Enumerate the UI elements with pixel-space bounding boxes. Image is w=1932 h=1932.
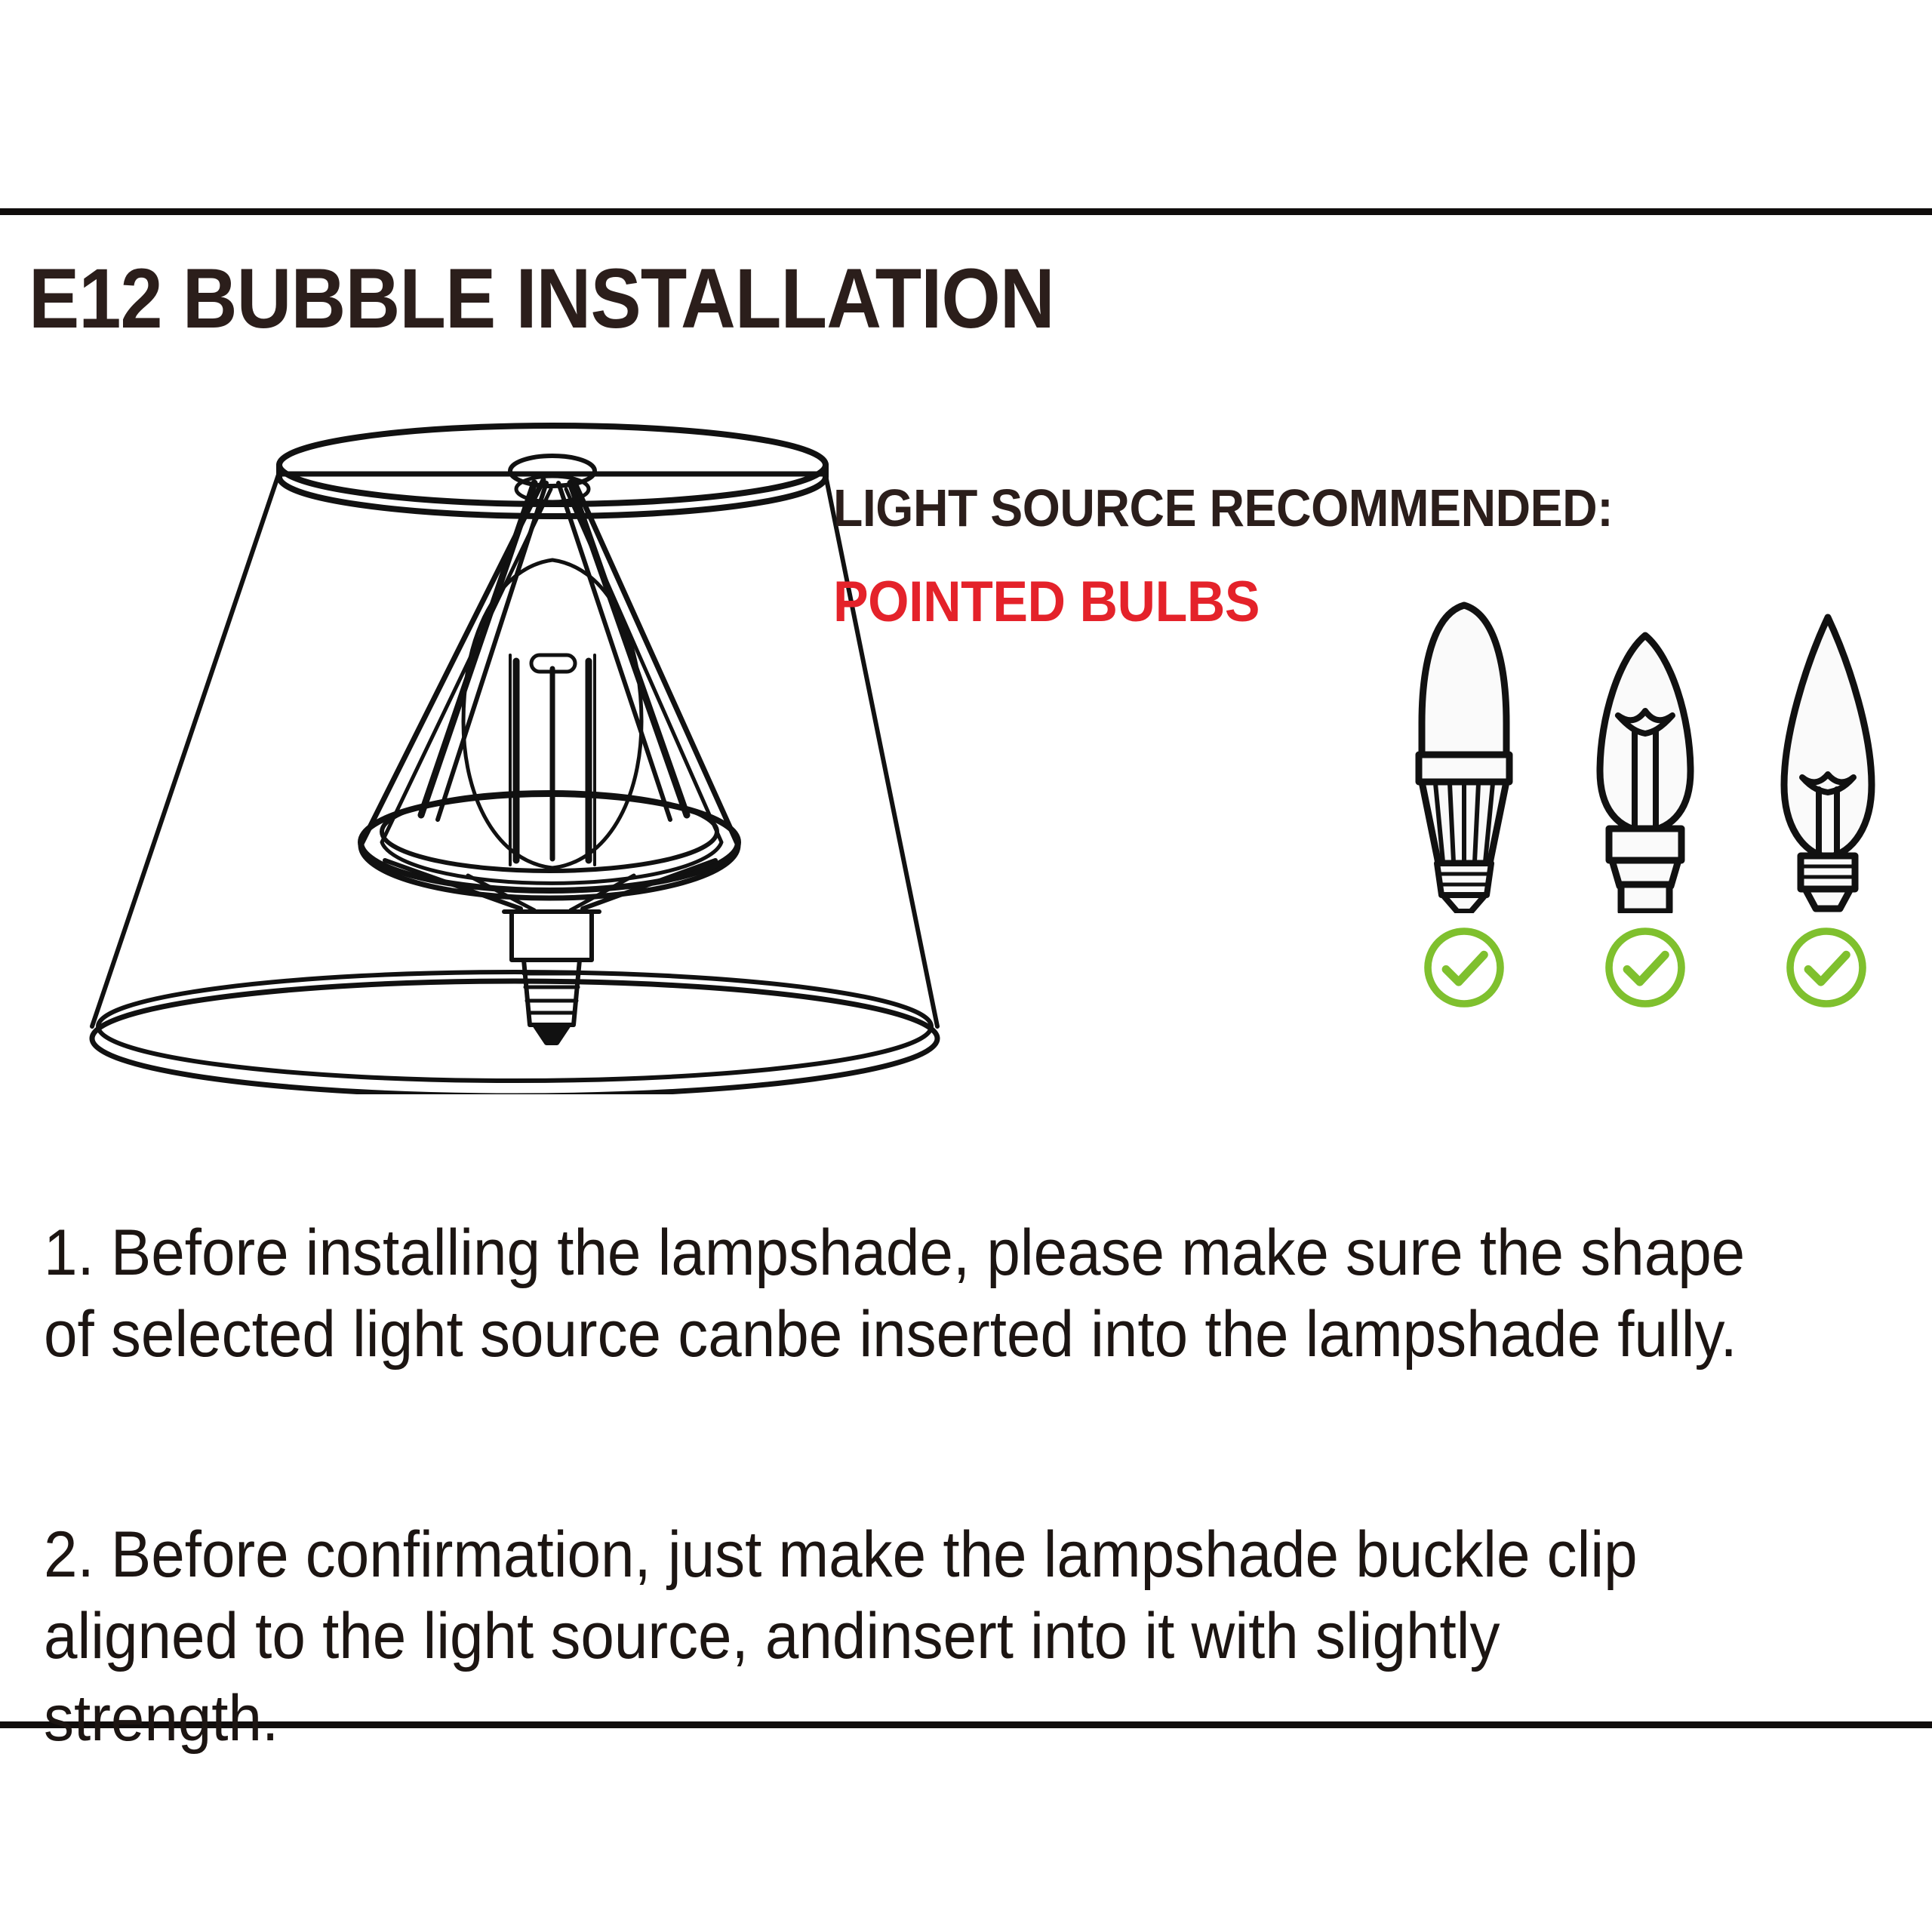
led-candle-bulb-icon: [1396, 596, 1532, 913]
check-circle-icon: [1600, 922, 1690, 1013]
instruction-step-2: 2. Before confirmation, just make the la…: [44, 1514, 1749, 1759]
e12-screw-base: [524, 960, 580, 1025]
instruction-step-1: 1. Before installing the lampshade, plea…: [44, 1212, 1749, 1376]
check-circle-icon: [1781, 922, 1872, 1013]
bulb-neck: [512, 912, 592, 960]
top-ring-outer: [279, 426, 826, 504]
bulb-option-led-candle[interactable]: [1389, 596, 1540, 1013]
flame-tip-bulb-icon: [1758, 596, 1894, 913]
clear-candle-bulb-icon: [1577, 596, 1713, 913]
shade-right-edge: [824, 468, 937, 1026]
frame-top-rule: [0, 208, 1932, 215]
check-circle-icon: [1419, 922, 1509, 1013]
clip-cage-outline: [361, 480, 738, 898]
bulb-option-clear-candle[interactable]: [1570, 596, 1721, 1013]
bottom-rim-inner: [98, 972, 931, 1081]
light-source-recommended-label: LIGHT SOURCE RECOMMENDED:: [833, 481, 1613, 534]
clip-lower-ring-inner: [382, 792, 717, 871]
bottom-rim-outer: [92, 981, 937, 1094]
bulb-option-flame-tip[interactable]: [1751, 596, 1902, 1013]
page-title: E12 BUBBLE INSTALLATION: [29, 257, 1054, 341]
recommended-bulb-gallery: [1389, 596, 1902, 1041]
installation-instruction-card: E12 BUBBLE INSTALLATION: [0, 0, 1932, 1932]
recommended-bulb-type-value: POINTED BULBS: [833, 574, 1260, 631]
e12-foot-contact: [534, 1025, 569, 1043]
shade-left-edge: [92, 468, 281, 1026]
